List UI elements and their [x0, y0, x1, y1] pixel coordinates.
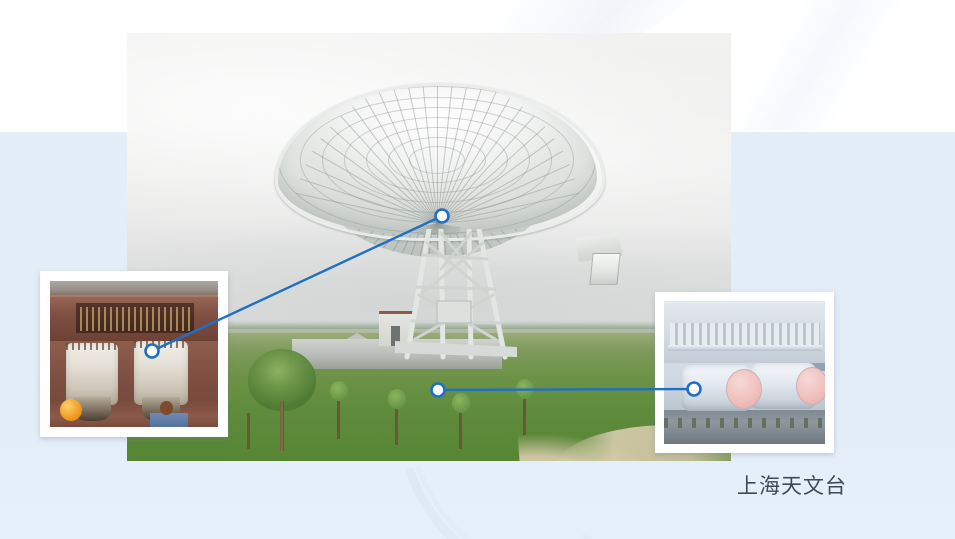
- photo-sapling-crown-4: [516, 379, 534, 399]
- photo-feed-horn: [589, 253, 620, 285]
- photo-sapling-crown-1: [330, 381, 348, 401]
- detail-pink-end-cap-2: [796, 367, 825, 405]
- photo-willow-tree: [247, 349, 317, 449]
- callout-right-frame[interactable]: [655, 292, 834, 453]
- photo-sapling-5: [247, 413, 250, 449]
- slide-canvas: 上海天文台: [0, 0, 955, 539]
- detail-pink-end-cap-1: [726, 369, 762, 409]
- photo-sapling-crown-3: [452, 393, 470, 413]
- page-title: 上海天文台: [737, 470, 847, 500]
- photo-support-tower: [383, 229, 529, 361]
- detail-photo-refurbished-drive-units: [664, 301, 825, 444]
- callout-left-frame[interactable]: [40, 271, 228, 437]
- detail-orange-sphere: [60, 399, 82, 421]
- detail-photo-rusty-drive-units: [50, 281, 218, 427]
- photo-sapling-crown-2: [388, 389, 406, 409]
